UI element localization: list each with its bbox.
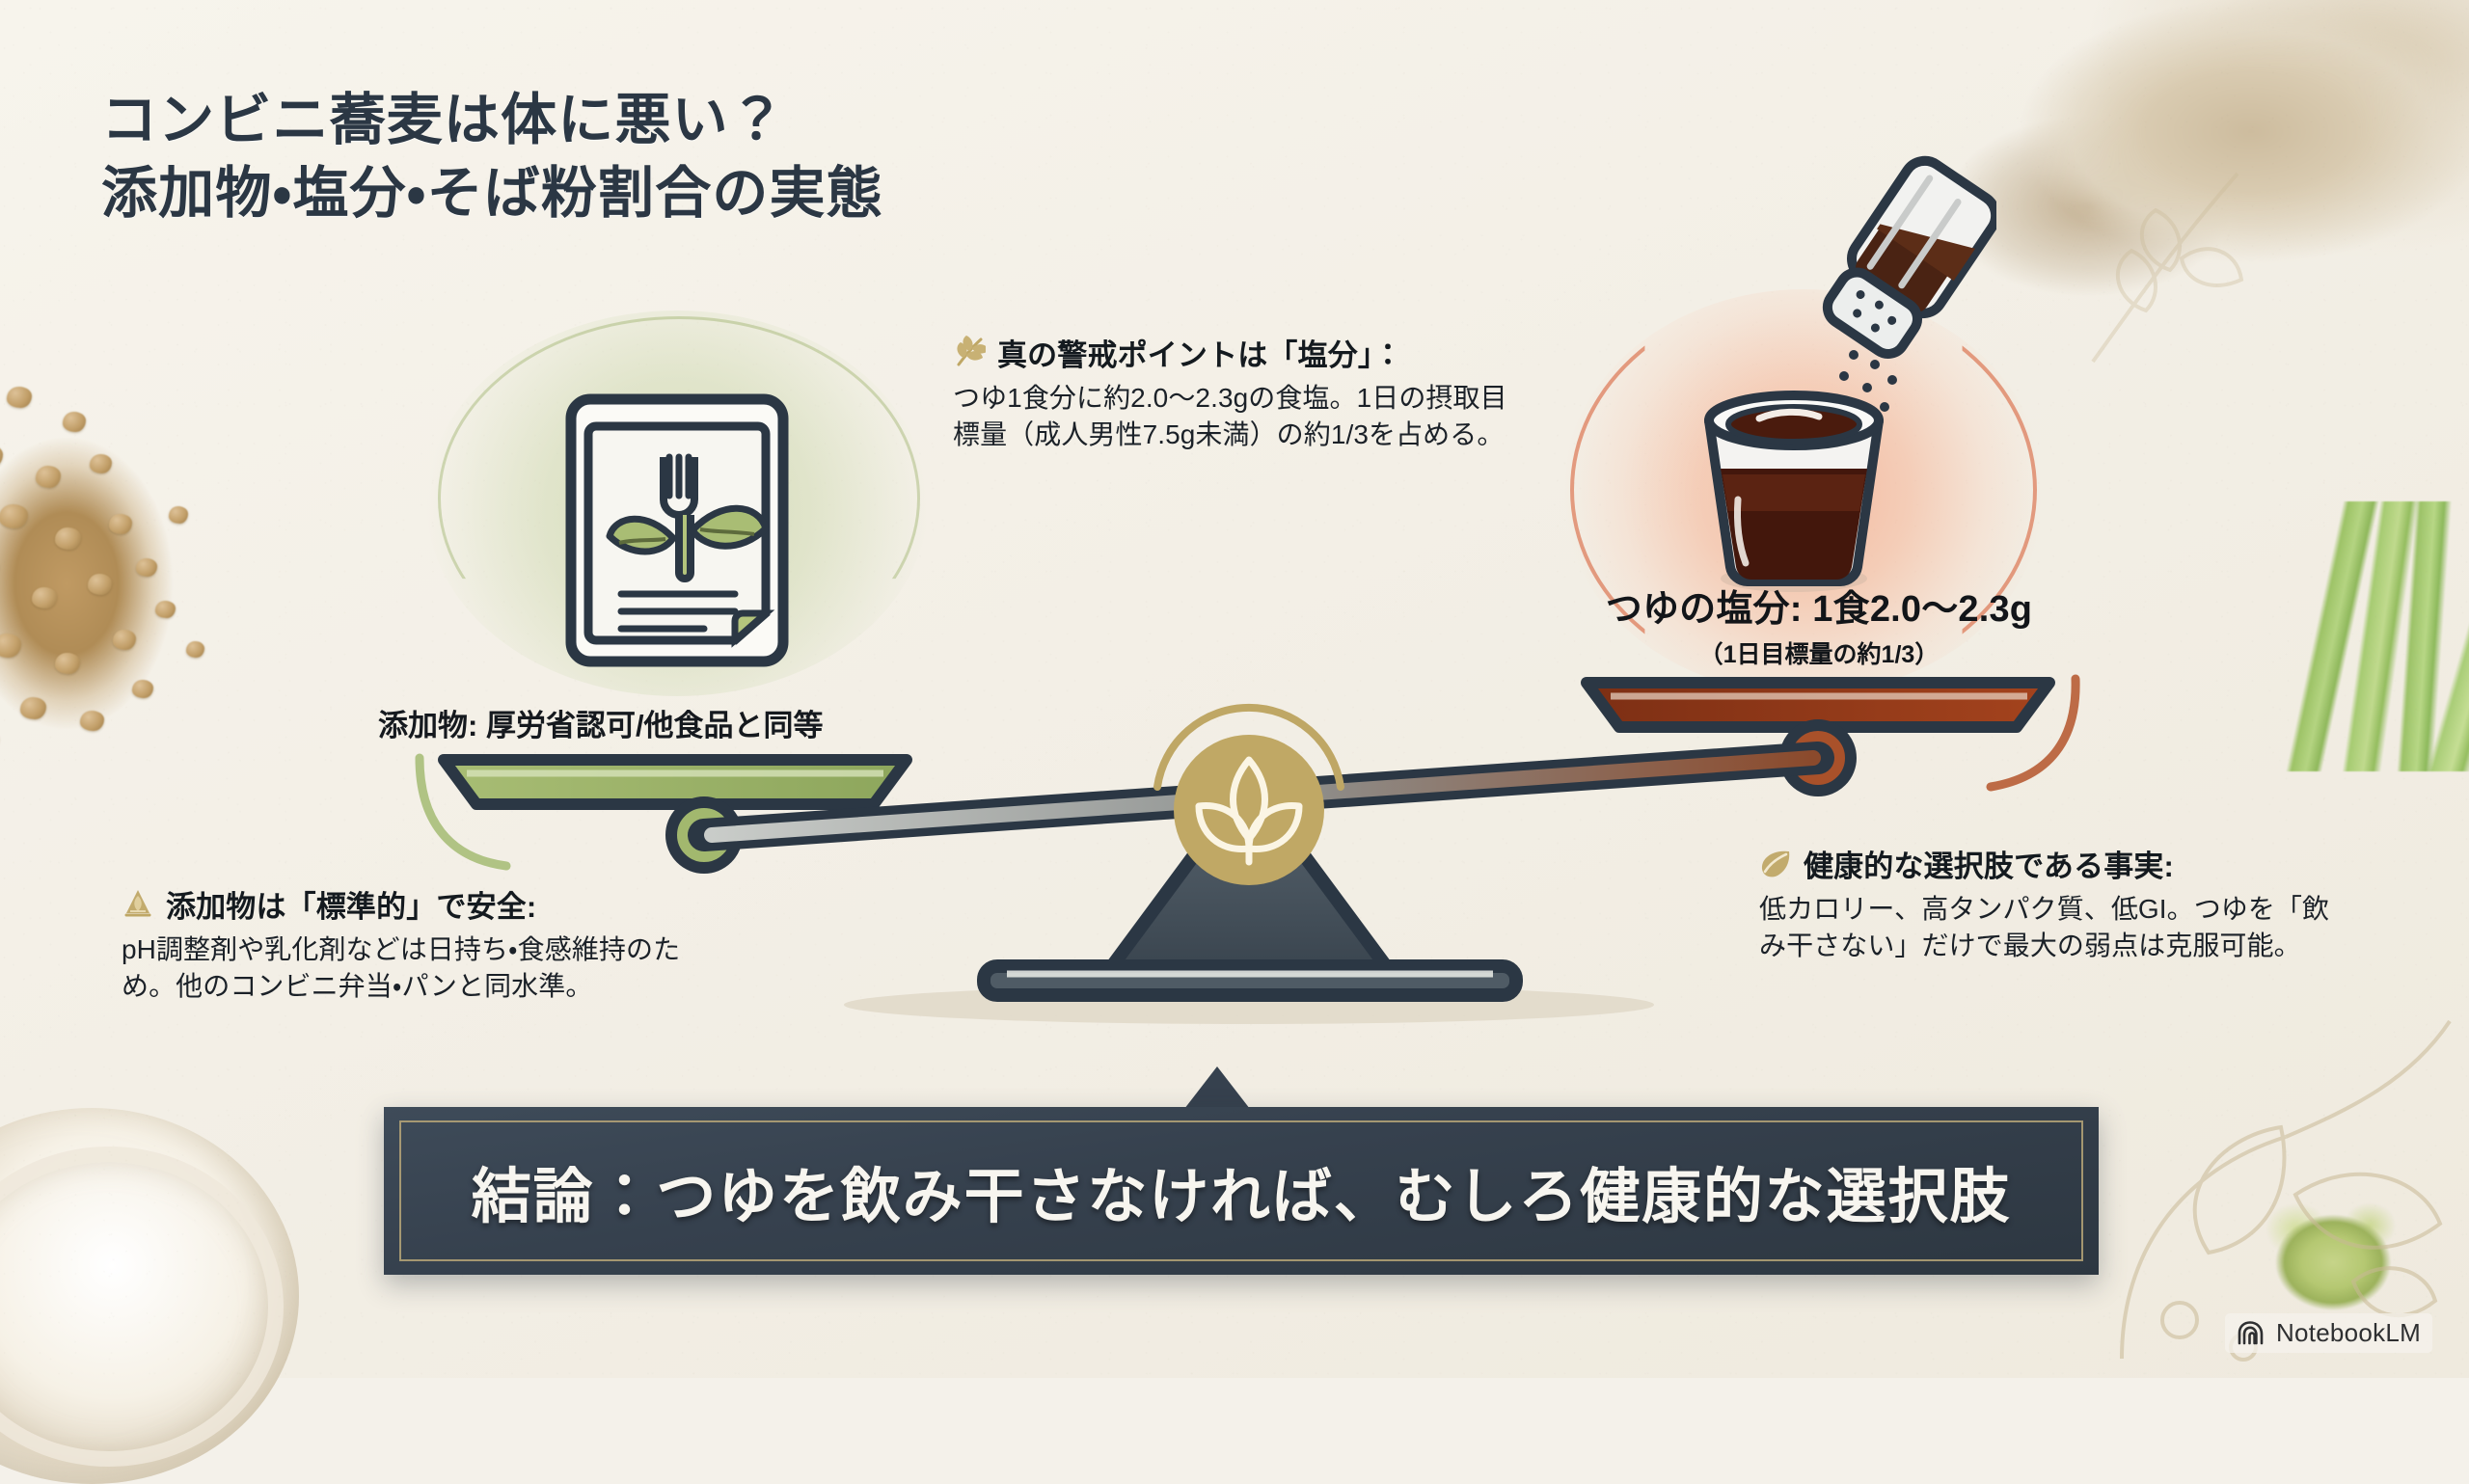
wheat-bundle-icon (122, 887, 154, 920)
conclusion-banner-text: 結論：つゆを飲み干さなければ、むしろ健康的な選択肢 (384, 1107, 2099, 1275)
callout-salt-body: つゆ1食分に約2.0〜2.3gの食塩。1日の摂取目標量（成人男性7.5g未満）の… (953, 380, 1512, 454)
callout-additive-heading: 添加物は「標準的」で安全: (166, 887, 536, 927)
callout-salt: 真の警戒ポイントは「塩分」： つゆ1食分に約2.0〜2.3gの食塩。1日の摂取目… (953, 336, 1512, 454)
notebooklm-watermark: NotebookLM (2225, 1313, 2432, 1353)
nutrition-label-document-icon (565, 393, 789, 667)
infographic-canvas: コンビニ蕎麦は体に悪い？ 添加物・塩分・そば粉割合の実態 添加物: 厚労省認可/… (0, 0, 2469, 1378)
page-title-line-1: コンビニ蕎麦は体に悪い？ (101, 89, 786, 151)
callout-additive-heading-row: 添加物は「標準的」で安全: (122, 887, 681, 927)
buckwheat-grains-photo-left (0, 352, 246, 815)
callout-salt-heading-row: 真の警戒ポイントは「塩分」： (953, 336, 1512, 375)
callout-healthy-heading: 健康的な選択肢である事実: (1804, 847, 2174, 886)
callout-additive-body: pH調整剤や乳化剤などは日持ち・食感維持のため。他のコンビニ弁当・パンと同水準。 (122, 931, 681, 1006)
tsuyu-pan-label: つゆの塩分: 1食2.0〜2.3g （1日目標量の約1/3） (1539, 579, 2099, 670)
page-title-line-2: 添加物・塩分・そば粉割合の実態 (101, 157, 883, 231)
callout-healthy: 健康的な選択肢である事実: 低カロリー、高タンパク質、低GI。つゆを「飲み干さな… (1759, 847, 2338, 965)
scallion-photo-right (2276, 501, 2469, 771)
callout-salt-heading: 真の警戒ポイントは「塩分」： (997, 336, 1403, 375)
callout-additive: 添加物は「標準的」で安全: pH調整剤や乳化剤などは日持ち・食感維持のため。他の… (122, 887, 681, 1006)
soy-sauce-cup-icon (1678, 386, 1910, 598)
callout-healthy-heading-row: 健康的な選択肢である事実: (1759, 847, 2338, 886)
leaf-icon (1759, 847, 1792, 879)
flour-bowl-photo-bottom-left (0, 1108, 299, 1484)
wasabi-photo-bottom-right (2228, 1156, 2430, 1339)
notebooklm-watermark-label: NotebookLM (2276, 1318, 2421, 1348)
notebooklm-logo-icon (2237, 1321, 2266, 1346)
banner-notch (1184, 1066, 1250, 1109)
page-title: コンビニ蕎麦は体に悪い？ 添加物・塩分・そば粉割合の実態 (101, 84, 883, 231)
salt-shaker-icon (1813, 154, 1996, 376)
wheat-line-art-decoration (2054, 135, 2305, 376)
conclusion-banner: 結論：つゆを飲み干さなければ、むしろ健康的な選択肢 (384, 1107, 2099, 1275)
wheat-icon (953, 336, 986, 368)
callout-healthy-body: 低カロリー、高タンパク質、低GI。つゆを「飲み干さない」だけで最大の弱点は克服可… (1759, 891, 2338, 965)
tsuyu-pan-label-main: つゆの塩分: 1食2.0〜2.3g (1539, 579, 2099, 632)
